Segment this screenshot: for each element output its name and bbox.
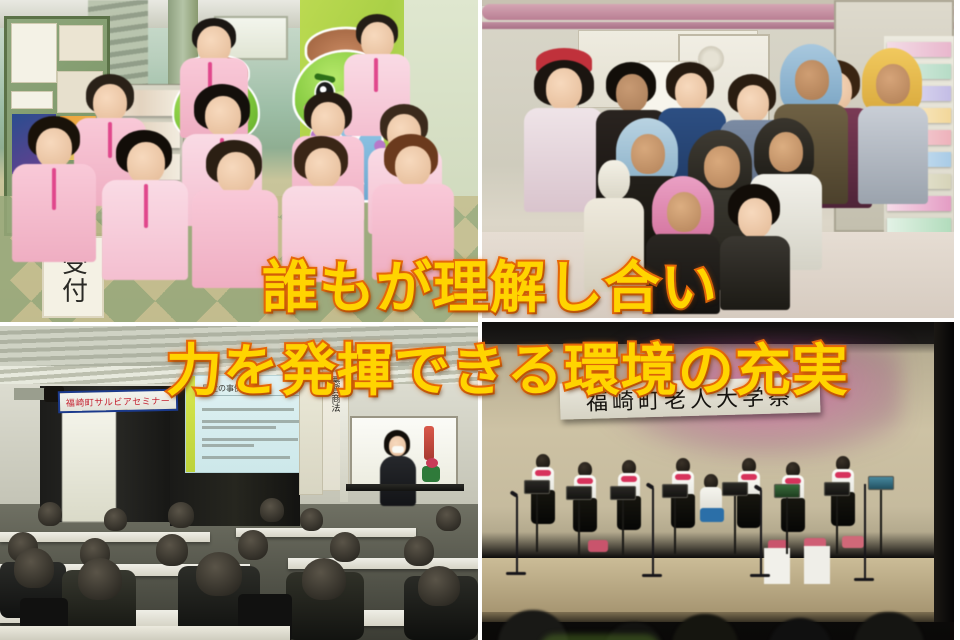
slide-text-line (202, 426, 276, 429)
plant (422, 466, 440, 482)
audience-member (260, 498, 284, 522)
chair (842, 536, 864, 548)
stage-reflection (540, 634, 660, 640)
red-scarf (741, 474, 757, 480)
red-scarf (675, 474, 691, 480)
face-mask (392, 446, 404, 453)
face (205, 96, 241, 136)
stage-wing (934, 322, 954, 622)
audience-member (14, 548, 54, 588)
slide-text-line (202, 444, 254, 447)
audience-member (238, 530, 268, 560)
face (667, 192, 701, 232)
stage-floor (482, 558, 954, 616)
black-skirt (617, 496, 641, 530)
face (36, 128, 72, 168)
face (675, 73, 707, 110)
red-scarf (621, 476, 637, 482)
face (127, 142, 165, 184)
collage-right-margin (954, 0, 960, 640)
face (631, 134, 665, 174)
face (598, 160, 630, 200)
audience-member (168, 502, 194, 528)
chair (804, 546, 830, 584)
slide-text-line (202, 456, 290, 459)
audience-member (436, 506, 461, 531)
face (769, 132, 803, 172)
overlay-caption-line-1: 誰もが理解し合い (262, 243, 718, 324)
instrument-case (700, 508, 724, 522)
top (720, 236, 790, 310)
audience-table (0, 626, 290, 640)
top (858, 106, 928, 204)
face (217, 152, 255, 194)
face (616, 74, 648, 112)
audience-member (156, 534, 188, 566)
black-skirt (531, 490, 555, 524)
black-skirt (573, 498, 597, 532)
jacket (380, 456, 416, 506)
presenter-desk (346, 484, 464, 491)
audience-member (104, 508, 127, 531)
audience-member (404, 536, 434, 566)
face (738, 198, 772, 238)
black-skirt (781, 498, 805, 532)
slide-text-line (202, 438, 298, 441)
face (311, 102, 345, 140)
face (795, 60, 829, 100)
red-scarf (577, 478, 593, 484)
seminar-banner-label: 福崎町サルビアセミナー (66, 393, 171, 408)
audience-member (38, 502, 62, 526)
face (546, 68, 582, 110)
face (704, 146, 740, 188)
audience-member (418, 566, 460, 606)
seminar-banner: 福崎町サルビアセミナー (60, 391, 176, 411)
slide-text-line (202, 408, 294, 411)
face (737, 85, 769, 122)
flower (426, 458, 438, 468)
slide-text-line (202, 420, 300, 423)
red-scarf (835, 472, 851, 478)
window (62, 410, 116, 522)
poster (12, 92, 52, 108)
red-scarf (535, 470, 551, 476)
poster (12, 24, 56, 82)
face (876, 64, 910, 104)
black-skirt (737, 494, 761, 528)
face (93, 84, 127, 122)
chair (588, 540, 608, 552)
poster (60, 26, 102, 60)
wall-decoration (424, 426, 434, 460)
face (395, 146, 431, 186)
audience-member (196, 552, 242, 596)
audience-member (78, 558, 122, 600)
audience-member (330, 532, 360, 562)
black-skirt (831, 492, 855, 526)
face (305, 148, 341, 188)
photo-collage: 受付 (0, 0, 960, 640)
audience-member (302, 558, 346, 600)
apron (524, 108, 604, 212)
audience-member (300, 508, 323, 531)
overlay-caption-line-2: 力を発揮できる環境の充実 (166, 326, 849, 407)
